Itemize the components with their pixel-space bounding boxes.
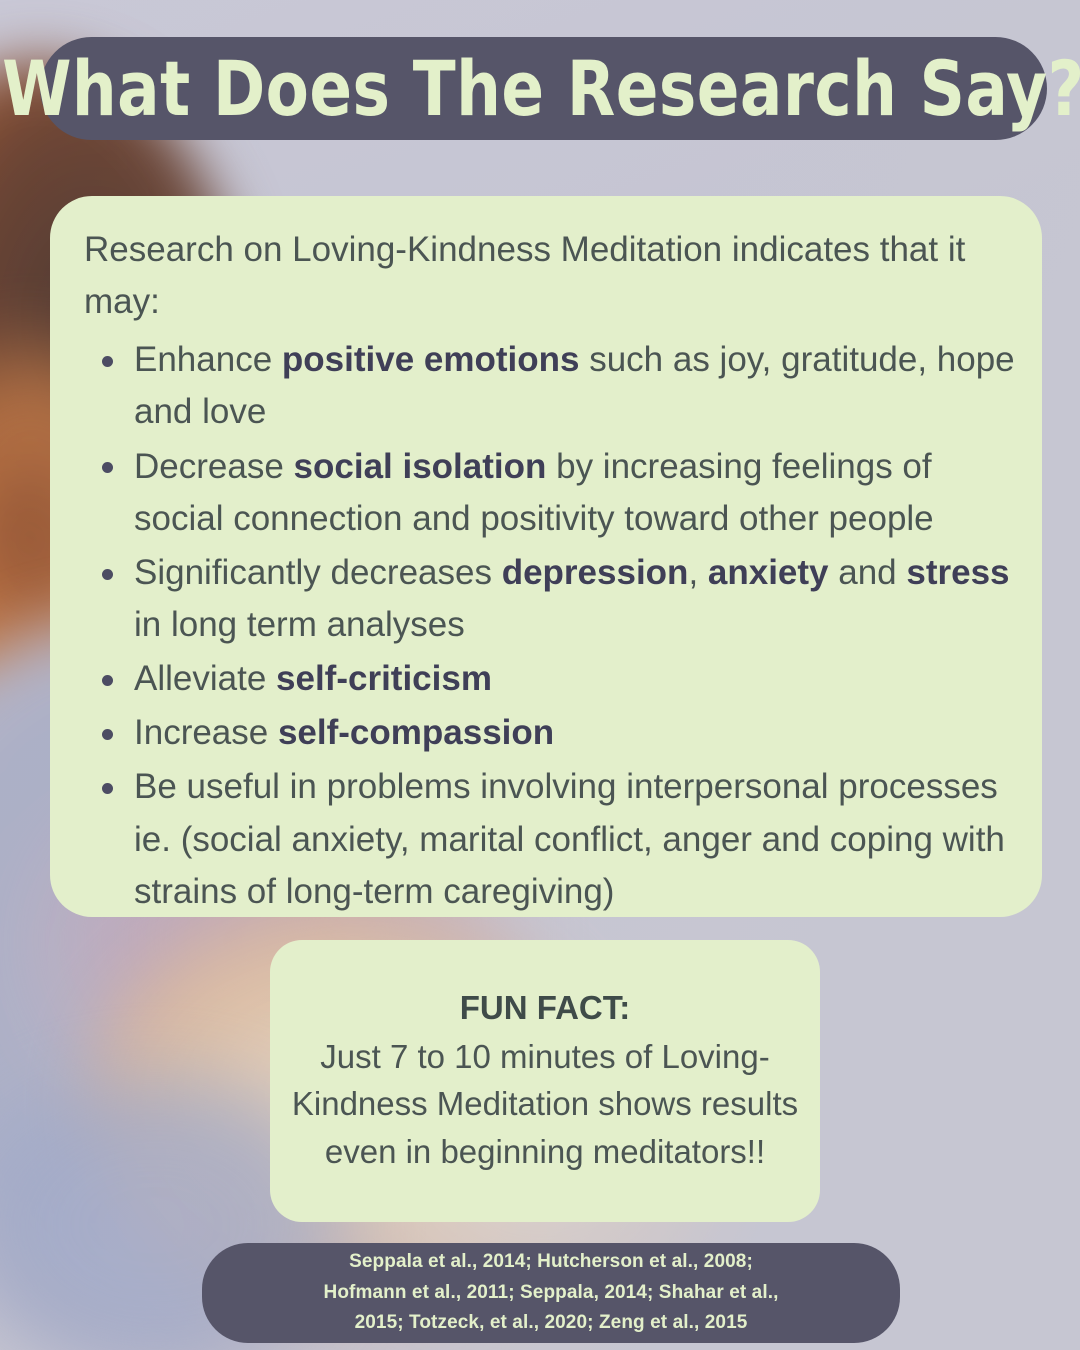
bullet-emphasis: anxiety (708, 553, 829, 592)
bullet-text: Significantly decreases (134, 553, 502, 592)
bullet-dot-icon (102, 356, 113, 367)
bullet-emphasis: self-compassion (278, 713, 554, 752)
bullet-emphasis: depression (502, 553, 689, 592)
bullet-text: Enhance (134, 340, 282, 379)
intro-paragraph: Research on Loving-Kindness Meditation i… (84, 224, 1016, 328)
research-bullet-item: Enhance positive emotions such as joy, g… (84, 334, 1016, 438)
fun-fact-body: Just 7 to 10 minutes of Loving-Kindness … (290, 1033, 800, 1177)
fun-fact-card: FUN FACT: Just 7 to 10 minutes of Loving… (270, 940, 820, 1222)
citation-line: 2015; Totzeck, et al., 2020; Zeng et al.… (355, 1308, 748, 1339)
bullet-dot-icon (102, 569, 113, 580)
bullet-text: Decrease (134, 447, 294, 486)
page-title: What Does The Research Say? (2, 51, 1080, 127)
bullet-dot-icon (102, 462, 113, 473)
bullet-dot-icon (102, 783, 113, 794)
bullet-dot-icon (102, 675, 113, 686)
bullet-text: in long term analyses (134, 605, 465, 644)
page-title-banner: What Does The Research Say? (40, 37, 1047, 140)
bullet-emphasis: self-criticism (276, 659, 492, 698)
fun-fact-heading: FUN FACT: (460, 986, 630, 1031)
bullet-emphasis: stress (906, 553, 1009, 592)
bullet-emphasis: positive emotions (282, 340, 580, 379)
bullet-text: Be useful in problems involving interper… (134, 767, 1005, 910)
bullet-text: and (829, 553, 907, 592)
research-bullet-list: Enhance positive emotions such as joy, g… (84, 334, 1016, 918)
bullet-text: , (688, 553, 707, 592)
citation-line: Hofmann et al., 2011; Seppala, 2014; Sha… (324, 1278, 779, 1309)
bullet-dot-icon (102, 729, 113, 740)
research-bullet-item: Increase self-compassion (84, 707, 1016, 759)
research-bullet-item: Decrease social isolation by increasing … (84, 441, 1016, 545)
citation-line: Seppala et al., 2014; Hutcherson et al.,… (349, 1247, 753, 1278)
research-bullet-item: Be useful in problems involving interper… (84, 761, 1016, 917)
bullet-text: Alleviate (134, 659, 276, 698)
bullet-emphasis: social isolation (294, 447, 547, 486)
citation-banner: Seppala et al., 2014; Hutcherson et al.,… (202, 1243, 900, 1343)
research-bullet-item: Significantly decreases depression, anxi… (84, 547, 1016, 651)
research-card: Research on Loving-Kindness Meditation i… (50, 196, 1042, 917)
bullet-text: Increase (134, 713, 278, 752)
research-bullet-item: Alleviate self-criticism (84, 653, 1016, 705)
